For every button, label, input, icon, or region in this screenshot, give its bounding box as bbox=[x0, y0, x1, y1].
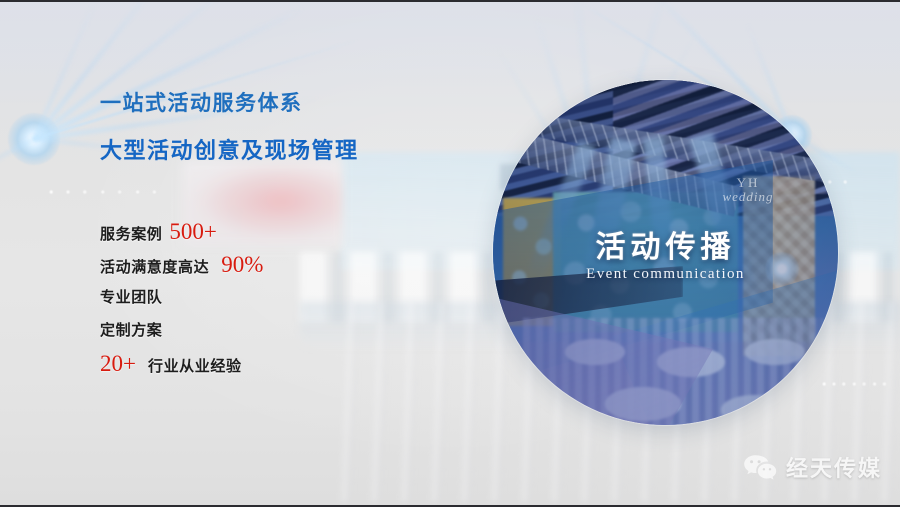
photo-brand-watermark: YH wedding bbox=[698, 176, 798, 203]
stat-value: 500+ bbox=[169, 220, 216, 243]
stat-label: 定制方案 bbox=[100, 319, 162, 340]
photo-caption-chinese: 活动传播 bbox=[493, 222, 838, 266]
stat-label: 专业团队 bbox=[100, 286, 162, 307]
list-item: 定制方案 bbox=[100, 319, 430, 352]
stat-label: 服务案例 bbox=[100, 223, 162, 244]
background-sparkle-row bbox=[44, 188, 164, 196]
stat-label: 活动满意度高达 bbox=[100, 256, 209, 277]
photo-brand-initials: YH bbox=[698, 176, 798, 190]
list-item: 专业团队 bbox=[100, 286, 430, 319]
list-item: 20+ 行业从业经验 bbox=[100, 352, 430, 385]
stats-list: 服务案例 500+ 活动满意度高达 90% 专业团队 定制方案 20+ 行业从业… bbox=[100, 220, 430, 385]
brand-watermark: 经天传媒 bbox=[743, 451, 882, 483]
list-item: 服务案例 500+ bbox=[100, 220, 430, 253]
photo-brand-word: wedding bbox=[698, 190, 798, 204]
stat-value: 20+ bbox=[100, 352, 136, 375]
slide-canvas: 一站式活动服务体系 大型活动创意及现场管理 服务案例 500+ 活动满意度高达 … bbox=[0, 0, 900, 507]
circular-event-photo: YH wedding 活动传播 Event communication bbox=[493, 80, 838, 425]
wechat-icon bbox=[743, 454, 777, 481]
page-title-primary: 一站式活动服务体系 bbox=[100, 87, 303, 117]
page-title-secondary: 大型活动创意及现场管理 bbox=[100, 133, 359, 165]
stat-value: 90% bbox=[221, 253, 263, 276]
brand-name: 经天传媒 bbox=[786, 451, 882, 483]
photo-caption-english: Event communication bbox=[493, 266, 838, 283]
list-item: 活动满意度高达 90% bbox=[100, 253, 430, 286]
stat-label: 行业从业经验 bbox=[148, 355, 242, 376]
